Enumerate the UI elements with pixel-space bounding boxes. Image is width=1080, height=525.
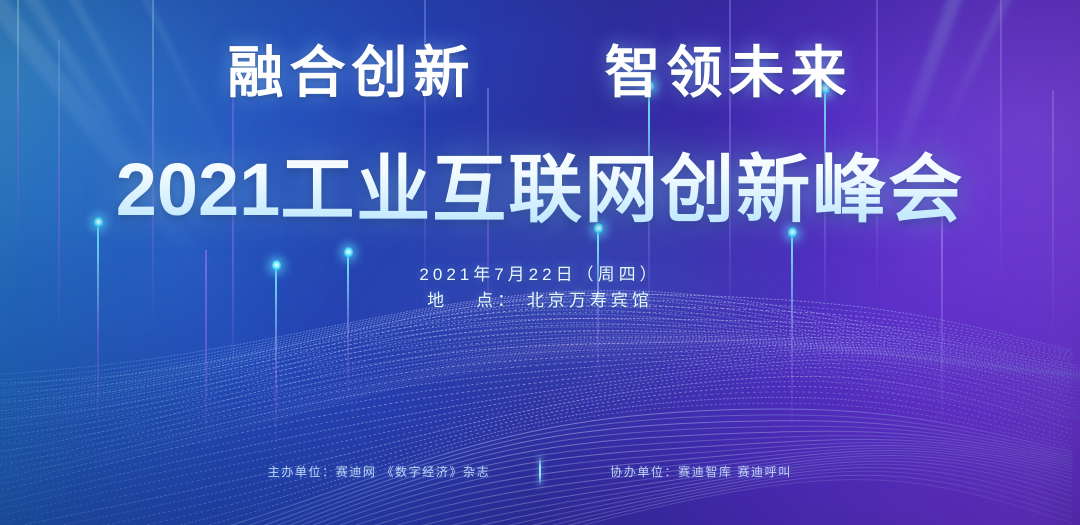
footer-divider <box>539 455 541 487</box>
footer-coorganizer: 协办单位：赛迪智库 赛迪呼叫 <box>551 463 851 480</box>
event-meta: 2021年7月22日（周四） 地点： 北京万寿宾馆 <box>0 262 1080 314</box>
poster-tagline: 融合创新 智领未来 <box>0 28 1080 109</box>
footer-host-organizer: 主办单位：赛迪网 《数字经济》杂志 <box>229 463 529 480</box>
poster-footer: 主办单位：赛迪网 《数字经济》杂志 协办单位：赛迪智库 赛迪呼叫 <box>0 455 1080 487</box>
tagline-left: 融合创新 <box>228 40 476 106</box>
venue-label-part1: 地 <box>427 291 448 310</box>
event-venue: 地点： 北京万寿宾馆 <box>0 288 1080 314</box>
title-year: 2021 <box>116 148 281 231</box>
venue-value: 北京万寿宾馆 <box>527 291 653 310</box>
venue-label-part2: 点： <box>476 291 518 310</box>
tagline-right: 智领未来 <box>605 40 853 106</box>
event-date: 2021年7月22日（周四） <box>0 262 1080 288</box>
conference-poster: 融合创新 智领未来 2021工业互联网创新峰会 2021年7月22日（周四） 地… <box>0 0 1080 525</box>
title-main: 工业互联网创新峰会 <box>280 148 964 231</box>
page-title: 2021工业互联网创新峰会 <box>0 130 1080 237</box>
